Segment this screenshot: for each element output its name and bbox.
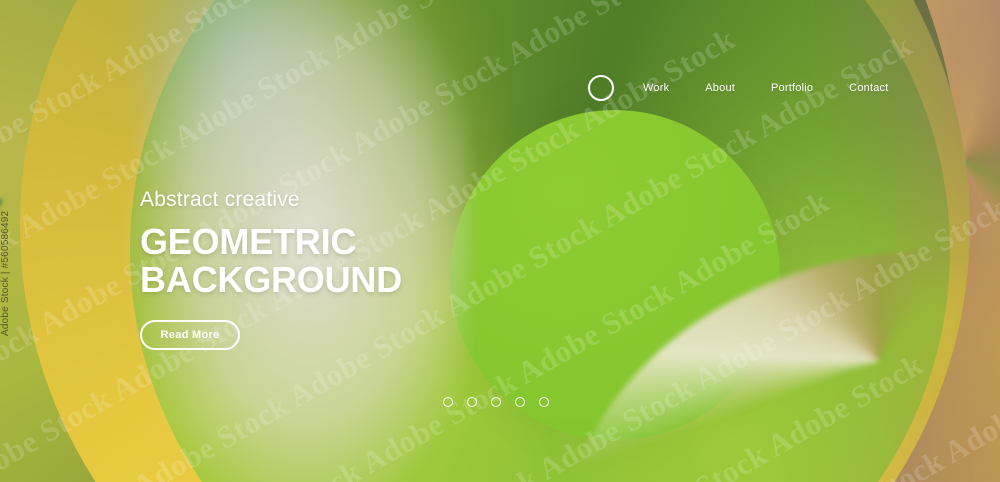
read-more-button[interactable]: Read More — [140, 320, 240, 350]
hero-headline: GEOMETRIC BACKGROUND — [140, 223, 570, 299]
carousel-dot-4[interactable] — [515, 397, 525, 407]
hero-headline-line-2: BACKGROUND — [140, 261, 570, 299]
nav-link-contact[interactable]: Contact — [849, 82, 888, 94]
carousel-dot-3[interactable] — [491, 397, 501, 407]
hero-copy: Abstract creative GEOMETRIC BACKGROUND — [140, 188, 570, 299]
hero-eyebrow: Abstract creative — [140, 188, 570, 211]
nav-link-portfolio[interactable]: Portfolio — [771, 82, 813, 94]
nav-link-about[interactable]: About — [705, 82, 735, 94]
circle-logo-icon[interactable] — [588, 75, 614, 101]
top-navigation: Work About Portfolio Contact — [0, 0, 1000, 150]
nav-links: Work About Portfolio Contact — [643, 82, 888, 94]
landing-page-hero: Adobe Stock Adobe Stock Adobe Stock Adob… — [0, 0, 1000, 482]
carousel-dot-5[interactable] — [539, 397, 549, 407]
stock-credit-label: Adobe Stock | #560586492 — [0, 211, 11, 336]
carousel-dot-2[interactable] — [467, 397, 477, 407]
nav-link-work[interactable]: Work — [643, 82, 669, 94]
hero-headline-line-1: GEOMETRIC — [140, 223, 570, 261]
carousel-dot-1[interactable] — [443, 397, 453, 407]
carousel-dots — [443, 397, 549, 407]
